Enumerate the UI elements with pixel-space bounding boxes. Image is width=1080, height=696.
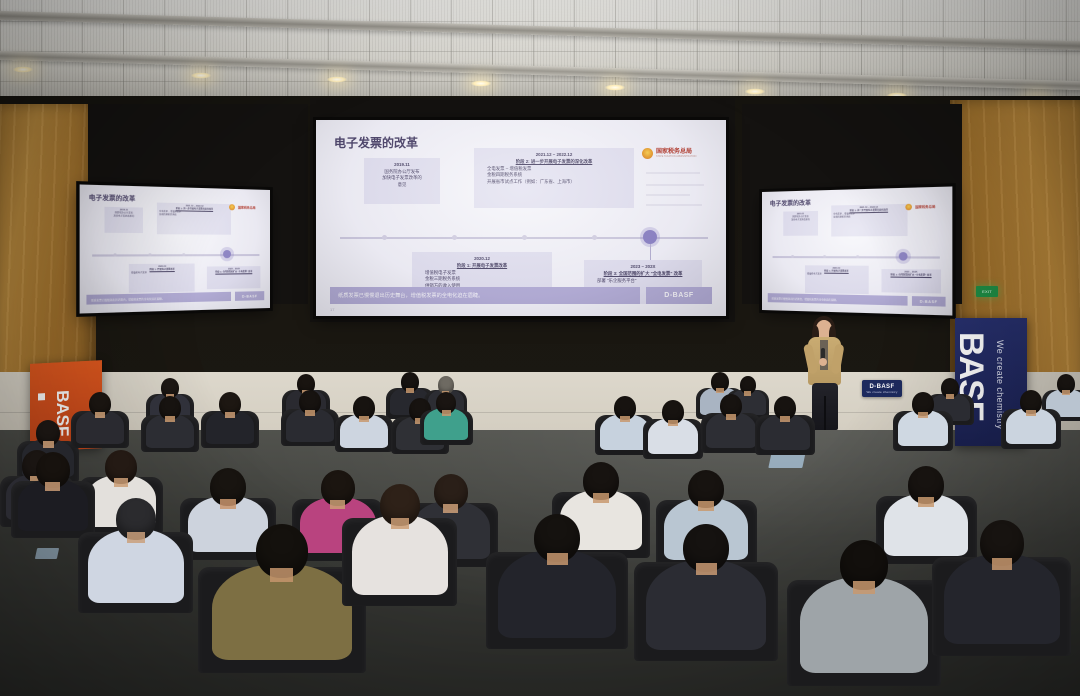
audience-neck	[43, 441, 54, 448]
card-bullet: 金税四期税务系统	[833, 216, 905, 220]
audience-neck	[853, 581, 875, 594]
audience-member	[1006, 390, 1056, 450]
card-bullet: 全电发票 – 增值税发票	[479, 166, 629, 173]
national-emblem-icon	[642, 148, 653, 159]
timeline-axis	[92, 254, 259, 257]
card-subheading: 阶段 1: 开展电子发票改革	[417, 263, 547, 270]
audience-neck	[780, 416, 790, 422]
audience-member	[88, 498, 184, 614]
audience-neck	[442, 410, 451, 416]
audience-neck	[918, 412, 928, 418]
tax-authority-name: 国家税务总局	[915, 205, 935, 209]
audience-neck	[918, 497, 934, 507]
audience-neck	[726, 414, 736, 420]
audience-member	[286, 390, 334, 448]
timeline-card-2023: 2023 – 202X 阶段 3: 全国范围的扩大 "全电发票" 改革	[207, 266, 260, 289]
tax-authority-logo: 国家税务总局 STATE TAXATION ADMINISTRATION	[642, 148, 696, 159]
card-line: 意见	[367, 182, 437, 189]
timeline-card-2020: 2020.12 阶段 1: 开展电子发票改革 增值税电子发票	[129, 264, 195, 293]
slide-canvas-right: 电子发票的改革 2019.11 国务院办公厅发布 加快电子发票改革的 2021.…	[762, 186, 952, 315]
timeline-card-2021: 2021.12 – 2022.12 阶段 2: 进一步开展电子发票的深化改革 全…	[831, 204, 907, 237]
card-bullet: 增值税电子发票	[131, 272, 193, 276]
timeline-card-2020: 2020.12 阶段 1: 开展电子发票改革 增值税电子发票	[805, 265, 869, 294]
decor-line	[646, 204, 702, 206]
audience-member	[706, 394, 756, 454]
card-bullet: 部署 "乐企服务平台"	[589, 278, 697, 285]
card-subheading: 阶段 3: 全国范围的扩大 "全电发票" 改革	[589, 271, 697, 278]
timeline-tick	[148, 253, 151, 256]
audience-neck	[1026, 410, 1036, 416]
audience-neck	[620, 416, 630, 422]
card-subheading: 阶段 3: 全国范围的扩大 "全电发票" 改革	[209, 271, 259, 275]
slide-number: 17	[330, 307, 334, 312]
timeline-tick	[113, 253, 116, 256]
projection-screen-center: 电子发票的改革 2019.11 国务院办公厅发布 加快电子发票改革的 意见 20…	[316, 120, 726, 316]
audience-neck	[716, 388, 724, 393]
timeline-tick	[522, 235, 527, 240]
ceiling-light	[326, 76, 348, 83]
timeline-tick	[823, 255, 826, 258]
slide-footer-text: 纸质发票已慢慢退出历史舞台，增值税发票的全电化迫在眉睫。	[91, 296, 164, 302]
audience-member	[424, 392, 468, 446]
audience-neck	[270, 568, 293, 582]
card-line: 加快电子发票改革的	[784, 219, 817, 223]
card-line: 加快电子发票改革的	[106, 216, 142, 220]
card-bullet: 金税四期税务系统	[159, 215, 229, 219]
audience-member	[206, 392, 254, 450]
presenter-hand	[819, 358, 827, 366]
timeline-tick	[592, 235, 597, 240]
audience-member	[76, 392, 124, 450]
audience-neck	[359, 416, 369, 422]
slide-footer-text: 纸质发票已慢慢退出历史舞台，增值税发票的全电化迫在眉睫。	[772, 296, 839, 302]
audience-member	[800, 540, 928, 686]
tax-authority-subtitle: STATE TAXATION ADMINISTRATION	[656, 156, 696, 158]
slide-footer-text: 纸质发票已慢慢退出历史舞台，增值税发票的全电化迫在眉睫。	[338, 292, 483, 299]
tax-authority-logo: 国家税务总局	[229, 204, 256, 211]
audience-neck	[305, 410, 315, 416]
timeline-card-2023: 2023 – 202X 阶段 3: 全国范围的扩大 "全电发票" 改革	[881, 269, 941, 293]
audience-neck	[95, 412, 105, 418]
card-bullet: 增值税电子发票	[807, 274, 867, 278]
tax-authority-name: 国家税务总局	[238, 206, 256, 209]
slide-footer-brand: D-BASF	[646, 287, 712, 304]
ceiling-light	[12, 66, 34, 73]
exit-sign-label: EXIT	[982, 289, 992, 294]
card-heading: 2021.12 – 2022.12	[479, 152, 629, 159]
audience-member	[340, 396, 388, 454]
slide-canvas: 电子发票的改革 2019.11 国务院办公厅发布 加快电子发票改革的 意见 20…	[316, 120, 726, 316]
timeline-tick	[791, 255, 794, 258]
presenter-leg-split	[824, 396, 826, 430]
card-line: 加快电子发票改革的	[367, 175, 437, 182]
slide-footer-brand: D-BASF	[912, 296, 946, 307]
phone-screen	[35, 548, 59, 559]
timeline-current-marker	[899, 252, 908, 261]
timeline-card-2021: 2021.12 – 2022.12 阶段 2: 进一步开展电子发票的深化改革 全…	[157, 203, 231, 235]
audience-neck	[114, 478, 128, 487]
audience-member	[212, 524, 352, 674]
slide-footer-bar: 纸质发票已慢慢退出历史舞台，增值税发票的全电化迫在眉睫。	[330, 287, 640, 304]
timeline-card-2021: 2021.12 – 2022.12 阶段 2: 进一步开展电子发票的深化改革 全…	[474, 148, 634, 208]
audience-member	[146, 396, 194, 454]
tax-authority-logo: 国家税务总局	[905, 203, 935, 210]
card-heading: 2020.12	[417, 256, 547, 263]
slide-footer-bar: 纸质发票已慢慢退出历史舞台，增值税发票的全电化迫在眉睫。	[86, 292, 231, 305]
conference-room-scene: EXIT 电子发票的改革 2019.11 国务院办公厅发布 加快电子发票改革的 …	[0, 0, 1080, 696]
audience-member	[760, 396, 810, 456]
audience-neck	[330, 500, 345, 509]
decor-line	[646, 172, 700, 174]
ceiling-light	[744, 88, 766, 95]
card-subheading: 阶段 2: 进一步开展电子发票的深化改革	[479, 159, 629, 166]
audience-member	[18, 452, 88, 540]
audience-neck	[547, 553, 568, 565]
audience-neck	[668, 420, 678, 426]
timeline-card-2019: 2019.11 国务院办公厅发布 加快电子发票改革的 意见	[364, 158, 440, 204]
timeline-card-2019: 2019.11 国务院办公厅发布 加快电子发票改革的	[783, 211, 818, 236]
audience-member	[352, 484, 448, 606]
slide-canvas-left: 电子发票的改革 2019.11 国务院办公厅发布 加快电子发票改革的 2021.…	[80, 184, 270, 313]
decor-line	[646, 184, 704, 186]
audience-member	[646, 524, 766, 662]
exit-sign: EXIT	[976, 286, 998, 297]
banner-orange-mark-icon	[38, 393, 45, 400]
national-emblem-icon	[229, 204, 235, 210]
card-subheading: 阶段 3: 全国范围的扩大 "全电发票" 改革	[884, 274, 939, 278]
tax-authority-name: 国家税务总局	[656, 149, 696, 155]
audience-neck	[45, 482, 60, 491]
national-emblem-icon	[905, 204, 912, 211]
timeline-card-2019: 2019.11 国务院办公厅发布 加快电子发票改革的	[105, 207, 143, 233]
timeline-tick	[182, 253, 185, 256]
slide-title-right: 电子发票的改革	[770, 198, 811, 208]
card-bullet: 开展省市试点工作（例如：广东省、上海市）	[479, 179, 629, 186]
audience-neck	[225, 412, 235, 418]
podium-brand-sign: D-BASF We create chemistry	[862, 380, 902, 397]
audience-member	[648, 400, 698, 460]
timeline-current-marker	[223, 250, 231, 258]
ceiling-light	[190, 72, 212, 79]
projection-screen-right: 电子发票的改革 2019.11 国务院办公厅发布 加快电子发票改革的 2021.…	[762, 186, 952, 315]
timeline-tick	[452, 235, 457, 240]
slide-title: 电子发票的改革	[334, 134, 418, 151]
ceiling-light	[604, 84, 626, 91]
audience-member	[944, 520, 1060, 656]
audience-neck	[593, 493, 609, 503]
slide-footer-bar: 纸质发票已慢慢退出历史舞台，增值税发票的全电化迫在眉睫。	[768, 293, 908, 306]
audience-neck	[698, 501, 714, 511]
audience-neck	[992, 558, 1012, 570]
audience-neck	[1062, 390, 1070, 395]
audience-neck	[165, 416, 175, 422]
timeline-tick	[856, 255, 859, 258]
timeline-stem	[650, 244, 651, 260]
card-heading: 2019.11	[367, 162, 437, 169]
audience-neck	[127, 532, 145, 543]
slide-footer-brand: D-BASF	[235, 291, 264, 301]
timeline-current-marker	[643, 230, 657, 244]
projection-screen-left: 电子发票的改革 2019.11 国务院办公厅发布 加快电子发票改革的 2021.…	[80, 184, 270, 313]
decor-line	[646, 194, 690, 196]
audience-neck	[220, 499, 236, 509]
podium-tagline: We create chemistry	[866, 390, 897, 394]
audience-member	[498, 514, 616, 650]
audience-neck	[391, 518, 409, 529]
timeline-tick	[382, 235, 387, 240]
audience-neck	[406, 388, 414, 393]
card-heading: 2023 – 202X	[589, 264, 697, 271]
ceiling-light	[470, 80, 492, 87]
audience-member	[898, 392, 948, 452]
audience-neck	[696, 563, 717, 575]
slide-title-left: 电子发票的改革	[89, 192, 136, 203]
